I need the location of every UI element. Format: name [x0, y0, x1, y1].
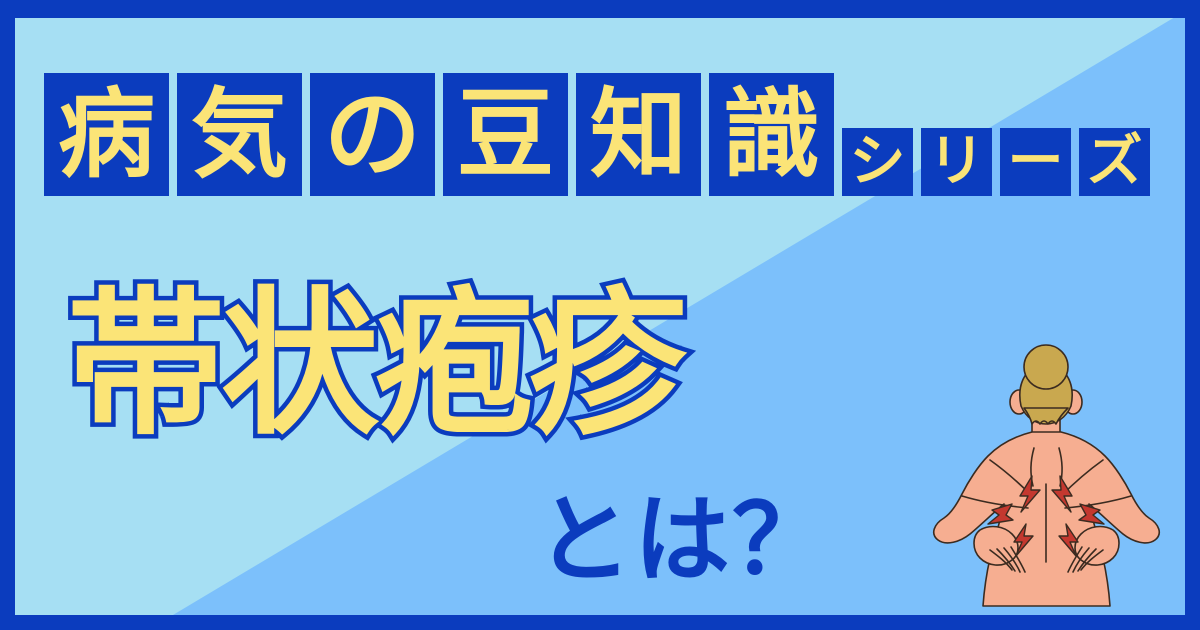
series-badge-char-9: ー [1000, 128, 1071, 196]
series-badge-row: 病 気 の 豆 知 識 シ リ ー ズ [44, 73, 1150, 196]
page-title: 帯状疱疹 [67, 286, 683, 444]
series-badge-char-1: 病 [44, 73, 169, 196]
woman-back-pain-illustration [920, 344, 1175, 615]
series-badge-char-6: 識 [709, 73, 834, 196]
series-badge-char-8: リ [921, 128, 992, 196]
hair-bun-shape [1024, 345, 1068, 389]
thumbnail-card: 病 気 の 豆 知 識 シ リ ー ズ 帯状疱疹 とは？ [0, 0, 1200, 630]
page-subtitle: とは？ [536, 492, 830, 588]
series-badge-char-4: 豆 [443, 73, 568, 196]
content-panel: 病 気 の 豆 知 識 シ リ ー ズ 帯状疱疹 とは？ [15, 18, 1185, 615]
series-badge-char-10: ズ [1079, 128, 1150, 196]
series-badge-char-5: 知 [576, 73, 701, 196]
series-badge-char-3: の [310, 73, 435, 196]
hair-fringe-shape [1024, 408, 1068, 424]
series-badge-char-2: 気 [177, 73, 302, 196]
series-badge-char-7: シ [842, 128, 913, 196]
